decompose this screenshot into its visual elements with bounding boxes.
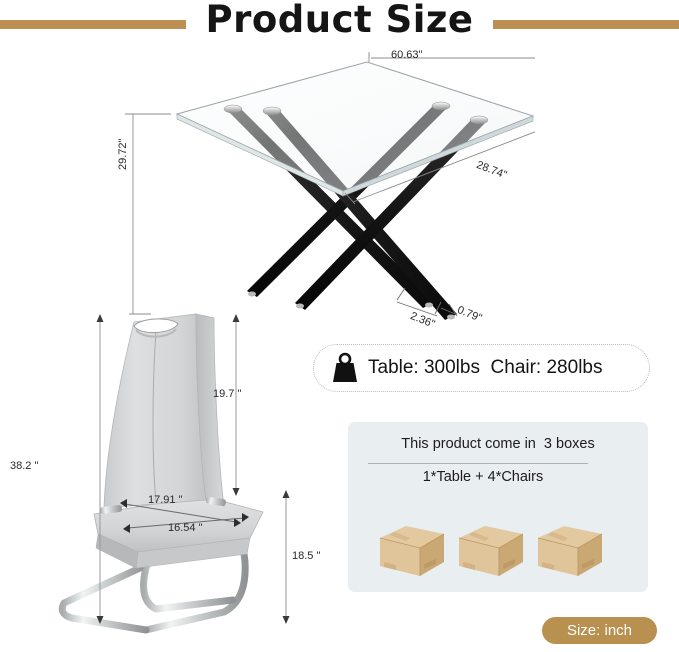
chair-seat-depth-label: 17.91 " xyxy=(148,494,183,506)
table-length-label: 60.63" xyxy=(391,49,422,61)
table-height-label: 29.72" xyxy=(117,139,129,170)
packaging-divider xyxy=(368,463,588,464)
table-diagram: 60.63" 28.74" 29.72" 2.36" 0.79" xyxy=(105,52,535,322)
chair-back-height-dimension xyxy=(233,314,240,496)
size-unit-badge: Size: inch xyxy=(542,617,657,644)
packaging-headline: This product come in 3 boxes xyxy=(348,436,648,452)
chair-drawing xyxy=(28,300,328,640)
table-drawing xyxy=(105,52,535,322)
chair-back-height-label: 19.7 " xyxy=(213,388,241,400)
chair-total-height-label: 38.2 " xyxy=(10,460,38,472)
cardboard-box-icon xyxy=(455,518,527,580)
chair-diagram: 38.2 " 19.7 " 17.91 " 16.54 " 18.5 " xyxy=(28,300,328,640)
chair-seat-width-label: 16.54 " xyxy=(168,522,203,534)
chair-backrest xyxy=(104,314,224,508)
packaging-box-row xyxy=(376,500,626,580)
weight-icon xyxy=(328,352,362,384)
cardboard-box-icon xyxy=(534,518,606,580)
chair-seat-height-dimension xyxy=(283,490,290,624)
page-header: Product Size xyxy=(0,0,679,50)
page-title: Product Size xyxy=(0,0,679,41)
chair-seat-height-label: 18.5 " xyxy=(292,550,320,562)
packaging-subline: 1*Table + 4*Chairs xyxy=(348,469,618,485)
size-unit-label: Size: inch xyxy=(567,622,632,639)
packaging-panel: This product come in 3 boxes 1*Table + 4… xyxy=(348,422,648,592)
weight-capacity-badge: Table: 300lbs Chair: 280lbs xyxy=(313,344,650,392)
chair-total-height-dimension xyxy=(97,314,104,624)
cardboard-box-icon xyxy=(376,518,448,580)
weight-capacity-text: Table: 300lbs Chair: 280lbs xyxy=(368,357,602,379)
glass-tabletop xyxy=(177,62,533,196)
